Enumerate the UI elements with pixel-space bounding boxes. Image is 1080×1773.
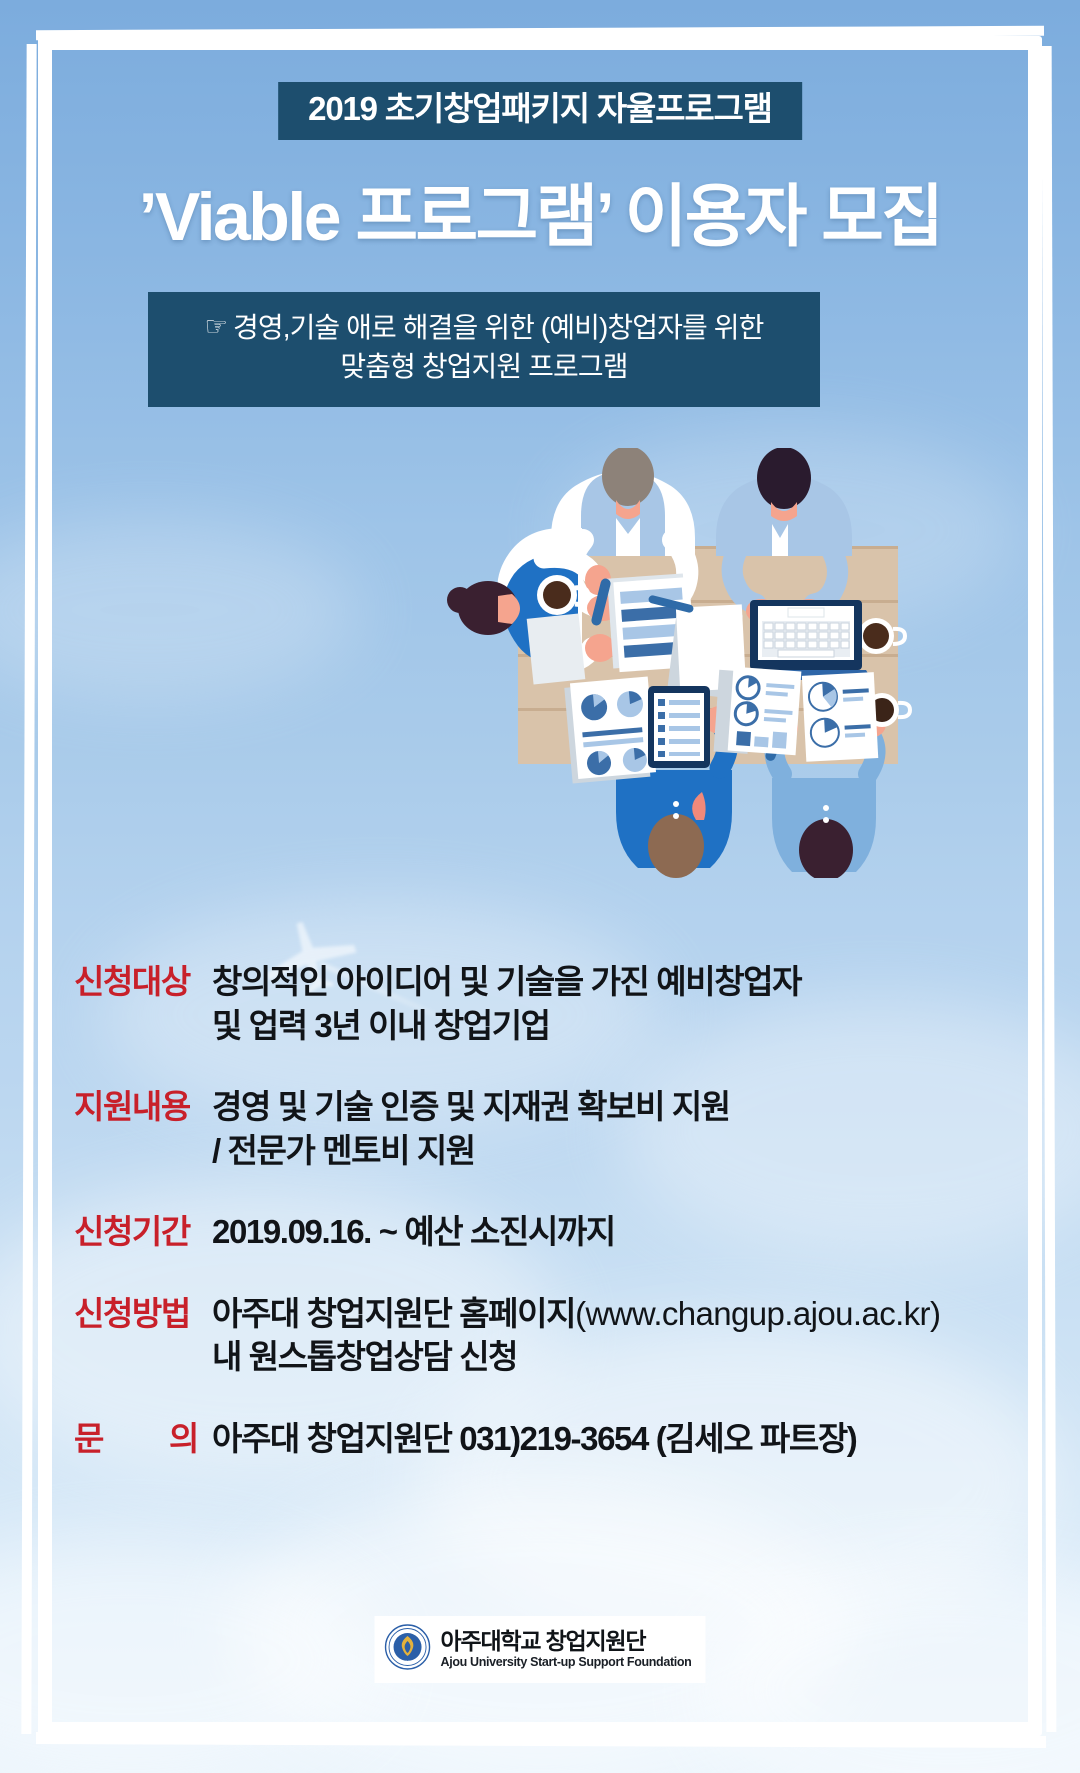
frame-edge-left	[21, 44, 36, 1734]
chart-document	[714, 666, 802, 758]
info-value-support: 경영 및 기술 인증 및 지재권 확보비 지원 / 전문가 멘토비 지원	[212, 1085, 994, 1172]
info-row-contact: 문 의 아주대 창업지원단 031)219-3654 (김세오 파트장)	[74, 1417, 994, 1461]
method-text: 아주대 창업지원단 홈페이지	[212, 1295, 575, 1332]
info-row-support: 지원내용 경영 및 기술 인증 및 지재권 확보비 지원 / 전문가 멘토비 지…	[74, 1085, 994, 1172]
logo-text-block: 아주대학교 창업지원단 Ajou University Start-up Sup…	[441, 1629, 692, 1669]
cloud-blob	[0, 520, 360, 700]
seal-year: 1973	[403, 1659, 413, 1664]
contact-label-char-2: 의	[169, 1417, 198, 1461]
info-label-period: 신청기간	[74, 1210, 212, 1254]
chart-document	[802, 672, 878, 762]
subtitle-line-2: 맞춤형 창업지원 프로그램	[170, 348, 798, 387]
page-title: ’Viable 프로그램’ 이용자 모집	[0, 178, 1080, 256]
kicker-ribbon: 2019 초기창업패키지 자율프로그램	[278, 82, 802, 140]
info-label-target: 신청대상	[74, 960, 212, 1004]
contact-label-char-1: 문	[74, 1417, 103, 1461]
info-value-method: 아주대 창업지원단 홈페이지(www.changup.ajou.ac.kr) 내…	[212, 1292, 994, 1379]
info-label-method: 신청방법	[74, 1292, 212, 1336]
subtitle-line-1: ☞경영,기술 애로 해결을 위한 (예비)창업자를 위한	[170, 309, 798, 348]
footer-logo: 1973 아주대학교 창업지원단 Ajou University Start-u…	[375, 1616, 706, 1683]
info-row-method: 신청방법 아주대 창업지원단 홈페이지(www.changup.ajou.ac.…	[74, 1292, 994, 1379]
info-label-contact: 문 의	[74, 1417, 212, 1461]
kicker-text: 2019 초기창업패키지 자율프로그램	[308, 91, 772, 127]
info-row-period: 신청기간 2019.09.16. ~ 예산 소진시까지	[74, 1210, 994, 1254]
value-line: 내 원스톱창업상담 신청	[212, 1335, 994, 1379]
value-line: 아주대 창업지원단 홈페이지(www.changup.ajou.ac.kr)	[212, 1292, 994, 1336]
homepage-url[interactable]: (www.changup.ajou.ac.kr)	[575, 1295, 940, 1332]
meeting-illustration	[420, 448, 940, 878]
info-list: 신청대상 창의적인 아이디어 및 기술을 가진 예비창업자 및 업력 3년 이내…	[74, 960, 994, 1460]
value-line: 2019.09.16. ~ 예산 소진시까지	[212, 1210, 994, 1254]
value-line: 경영 및 기술 인증 및 지재권 확보비 지원	[212, 1085, 994, 1129]
pointing-hand-icon: ☞	[205, 311, 227, 341]
chart-document	[564, 677, 656, 784]
logo-english-name: Ajou University Start-up Support Foundat…	[441, 1655, 692, 1669]
info-value-target: 창의적인 아이디어 및 기술을 가진 예비창업자 및 업력 3년 이내 창업기업	[212, 960, 994, 1047]
logo-korean-name: 아주대학교 창업지원단	[441, 1629, 692, 1655]
value-line: 아주대 창업지원단 031)219-3654 (김세오 파트장)	[212, 1417, 994, 1461]
paper	[527, 613, 586, 684]
value-line: 창의적인 아이디어 및 기술을 가진 예비창업자	[212, 960, 994, 1004]
subtitle-box: ☞경영,기술 애로 해결을 위한 (예비)창업자를 위한 맞춤형 창업지원 프로…	[148, 292, 820, 407]
info-value-contact: 아주대 창업지원단 031)219-3654 (김세오 파트장)	[212, 1417, 994, 1461]
ajou-seal-icon: 1973	[385, 1624, 431, 1675]
info-value-period: 2019.09.16. ~ 예산 소진시까지	[212, 1210, 994, 1254]
value-line: / 전문가 멘토비 지원	[212, 1129, 994, 1173]
tablet	[648, 686, 710, 768]
poster-root: 2019 초기창업패키지 자율프로그램 ’Viable 프로그램’ 이용자 모집…	[0, 0, 1080, 1773]
laptop	[740, 600, 872, 680]
info-label-support: 지원내용	[74, 1085, 212, 1129]
info-row-target: 신청대상 창의적인 아이디어 및 기술을 가진 예비창업자 및 업력 3년 이내…	[74, 960, 994, 1047]
subtitle-text-1: 경영,기술 애로 해결을 위한 (예비)창업자를 위한	[233, 312, 763, 343]
value-line: 및 업력 3년 이내 창업기업	[212, 1004, 994, 1048]
